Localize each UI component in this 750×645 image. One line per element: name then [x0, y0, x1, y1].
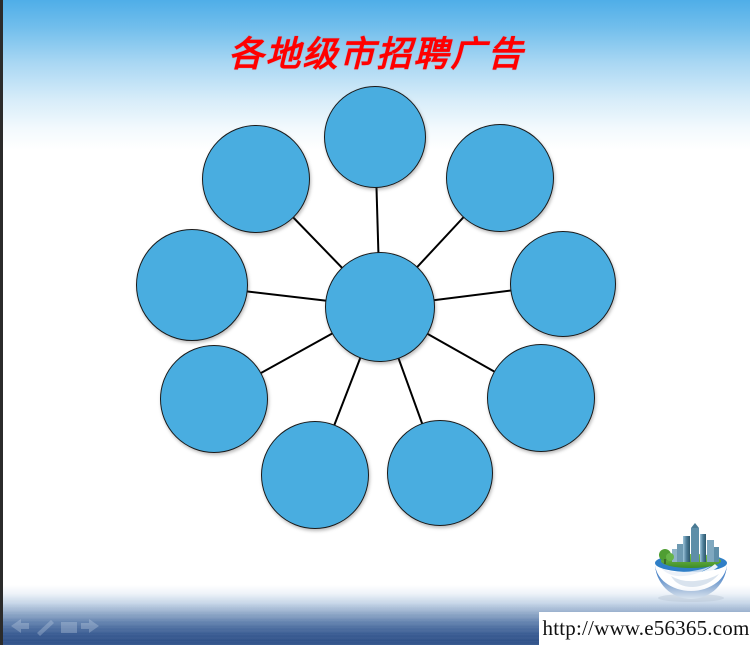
slide-canvas: 各地级市招聘广告: [0, 0, 750, 645]
earth-city-globe-icon: [639, 516, 743, 604]
node-upper-left[interactable]: [202, 125, 310, 233]
node-right[interactable]: [510, 231, 616, 337]
node-upper-left-label: [203, 126, 309, 232]
node-top[interactable]: [324, 86, 426, 188]
node-top-label: [325, 87, 425, 187]
node-bottom-right[interactable]: [387, 420, 493, 526]
node-bottom-right-label: [388, 421, 492, 525]
node-bottom-left[interactable]: [261, 421, 369, 529]
node-lower-right[interactable]: [487, 344, 595, 452]
node-upper-right-label: [447, 125, 553, 231]
node-left-label: [137, 230, 247, 340]
node-bottom-left-label: [262, 422, 368, 528]
node-lower-right-label: [488, 345, 594, 451]
node-upper-right[interactable]: [446, 124, 554, 232]
node-center[interactable]: [325, 252, 435, 362]
node-center-label: [326, 253, 434, 361]
city-skyline: [672, 523, 719, 562]
hub-and-spoke-diagram: [3, 0, 750, 645]
earth-city-globe: [639, 516, 743, 604]
node-right-label: [511, 232, 615, 336]
node-left[interactable]: [136, 229, 248, 341]
node-lower-left[interactable]: [160, 345, 268, 453]
node-lower-left-label: [161, 346, 267, 452]
watermark-url: http://www.e56365.com: [539, 612, 750, 645]
